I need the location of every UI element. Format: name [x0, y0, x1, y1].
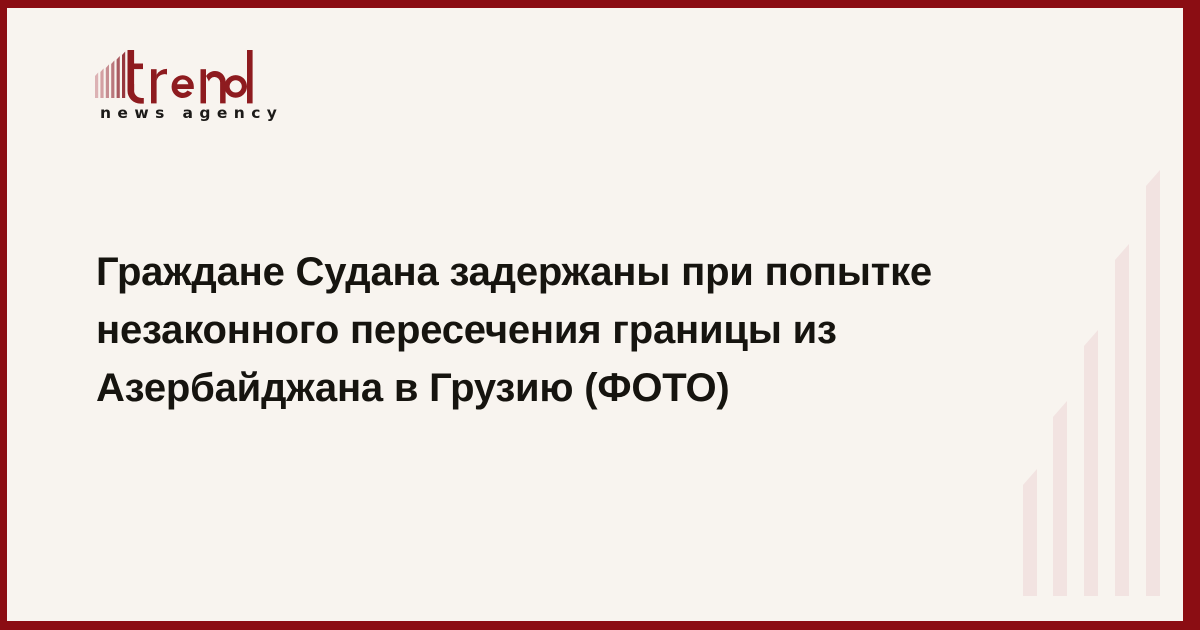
card-border-right	[1183, 0, 1200, 630]
trend-logo-mark-icon	[95, 50, 255, 104]
article-headline: Граждане Судана задержаны при попытке не…	[96, 243, 976, 417]
card-border-left	[0, 0, 7, 630]
site-logo[interactable]: news agency	[95, 46, 395, 136]
social-share-card: news agency Граждане Судана задержаны пр…	[0, 0, 1200, 630]
logo-tagline: news agency	[100, 104, 283, 122]
headline-line: незаконного пересечения границы из	[96, 301, 976, 359]
headline-line: Азербайджана в Грузию (ФОТО)	[96, 359, 976, 417]
card-border-bottom	[0, 621, 1200, 630]
card-border-top	[0, 0, 1200, 8]
headline-line: Граждане Судана задержаны при попытке	[96, 243, 976, 301]
trend-bars-watermark	[1023, 170, 1183, 596]
